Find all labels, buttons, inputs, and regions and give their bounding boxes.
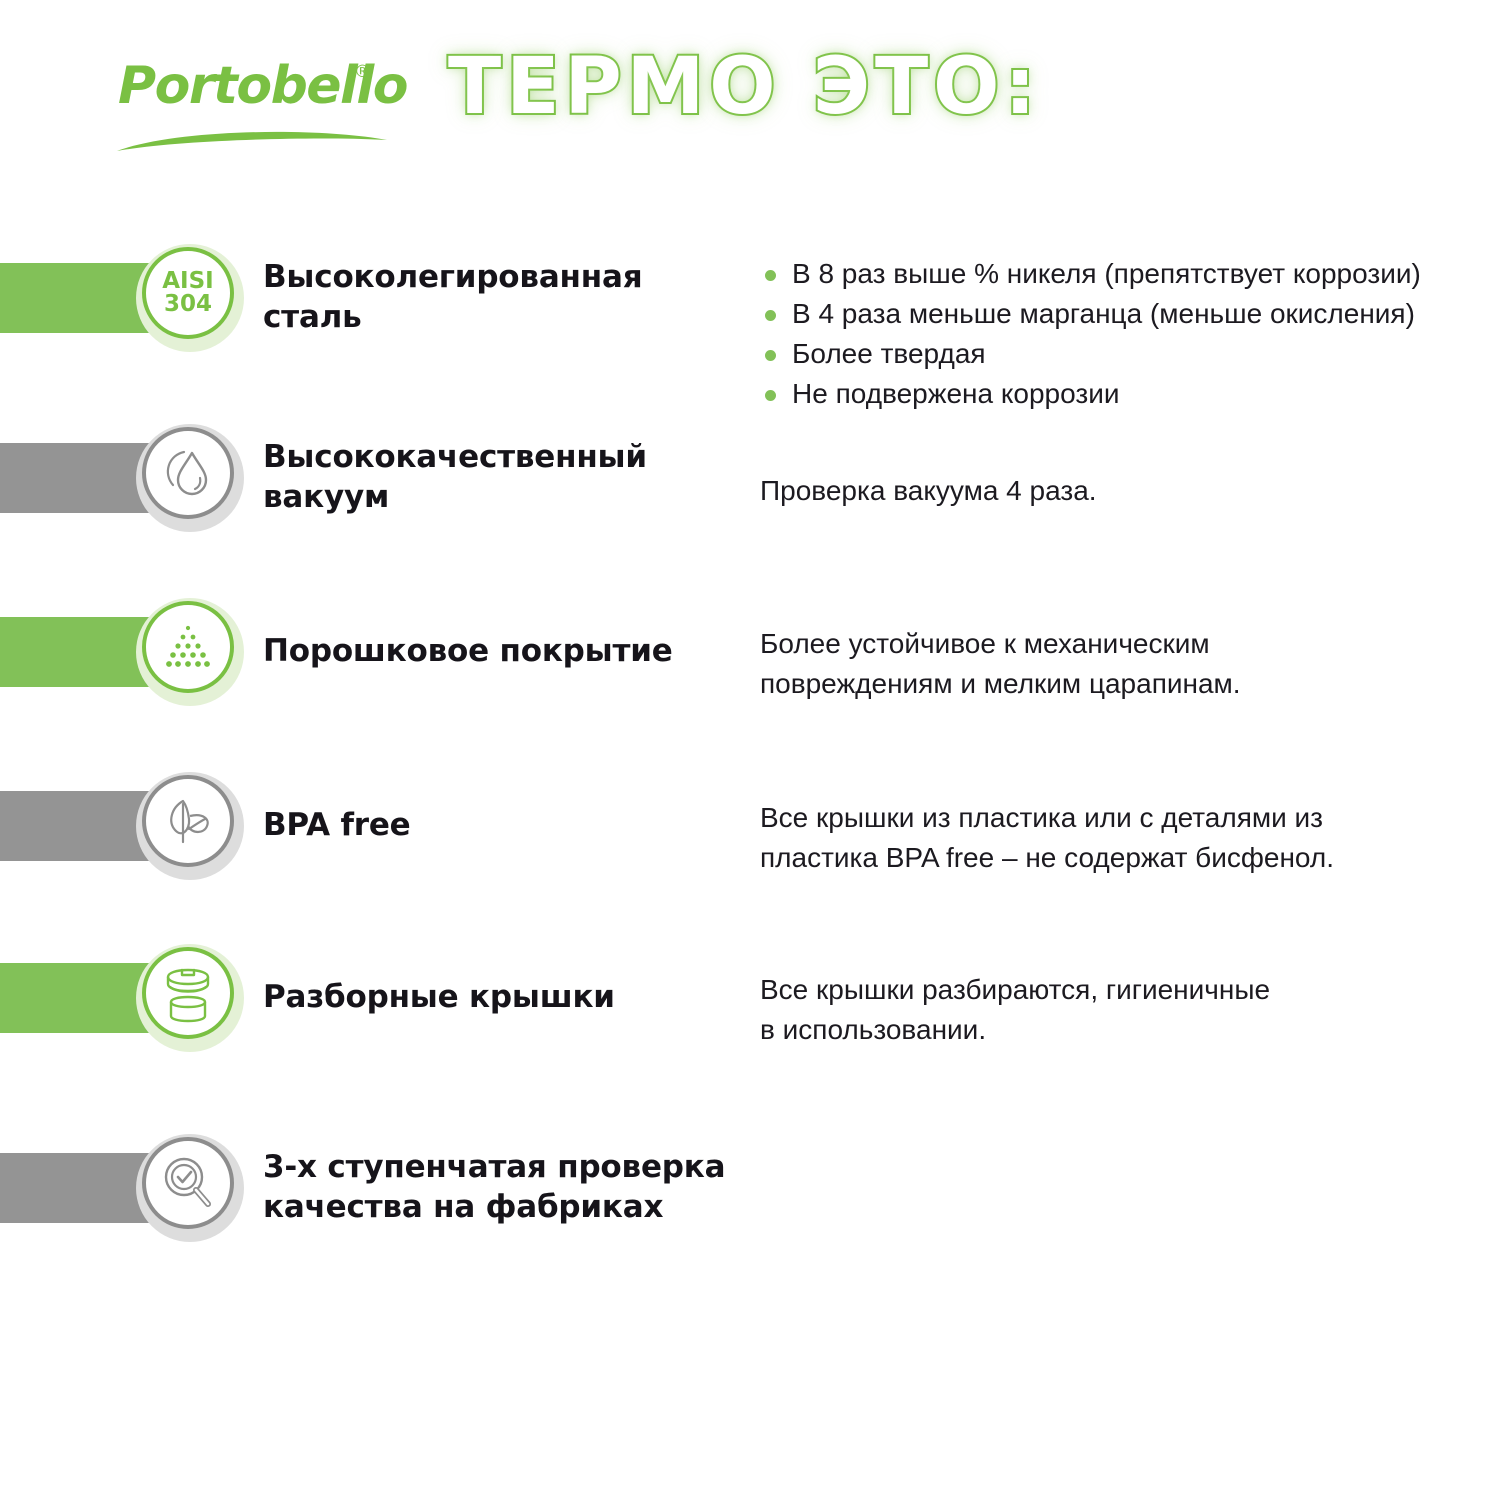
list-item: Не подвержена коррозии [760,374,1421,414]
feature-row-quality: 3-х ступенчатая проверка качества на фаб… [0,1134,1500,1284]
brand-logo: Portobello ® [118,58,388,158]
water-drop-icon [136,424,244,532]
feature-description: Более устойчивое к механическим поврежде… [760,624,1241,704]
detachable-lid-icon [136,944,244,1052]
feature-description: Проверка вакуума 4 раза. [760,471,1097,511]
feature-title: Порошковое покрытие [263,631,673,671]
magnifier-check-icon [136,1134,244,1242]
list-item: Более твердая [760,334,1421,374]
badge-glyph: AISI 304 [142,247,234,339]
detachable-lid-glyph [158,962,218,1024]
feature-row-powder: Порошковое покрытие Более устойчивое к м… [0,598,1500,738]
feature-title: Разборные крышки [263,977,615,1017]
feature-row-steel: AISI 304 Высоколегированная сталь В 8 ра… [0,244,1500,404]
aisi-304-badge-icon: AISI 304 [136,244,244,352]
leaves-icon [136,772,244,880]
badge-glyph [142,427,234,519]
powder-dots-icon [136,598,244,706]
feature-description: Все крышки из пластика или с деталями из… [760,798,1334,878]
badge-glyph [142,1137,234,1229]
feature-title: Высококачественный вакуум [263,437,647,518]
feature-row-lids: Разборные крышки Все крышки разбираются,… [0,944,1500,1094]
list-item: В 8 раз выше % никеля (препятствует корр… [760,254,1421,294]
registered-trademark-icon: ® [354,64,371,81]
water-drop-glyph [159,444,217,502]
magnifier-check-glyph [158,1153,218,1213]
badge-glyph [142,947,234,1039]
page-title: ТЕРМО ЭТО: [448,48,1041,126]
feature-title: 3-х ступенчатая проверка качества на фаб… [263,1147,725,1228]
page-header: Portobello ® ТЕРМО ЭТО: [0,0,1500,200]
feature-title: BPA free [263,805,411,845]
feature-title: Высоколегированная сталь [263,257,642,338]
badge-glyph [142,601,234,693]
list-item: В 4 раза меньше марганца (меньше окислен… [760,294,1421,334]
feature-description: Все крышки разбираются, гигиеничные в ис… [760,970,1270,1050]
aisi-label: AISI 304 [162,270,213,317]
feature-row-vacuum: Высококачественный вакуум Проверка вакуу… [0,424,1500,564]
brand-swoosh-icon [116,126,388,152]
badge-glyph [142,775,234,867]
feature-row-bpa: BPA free Все крышки из пластика или с де… [0,772,1500,912]
leaves-glyph [159,792,217,850]
powder-dots-glyph [160,619,216,675]
feature-bullet-list: В 8 раз выше % никеля (препятствует корр… [760,254,1421,414]
